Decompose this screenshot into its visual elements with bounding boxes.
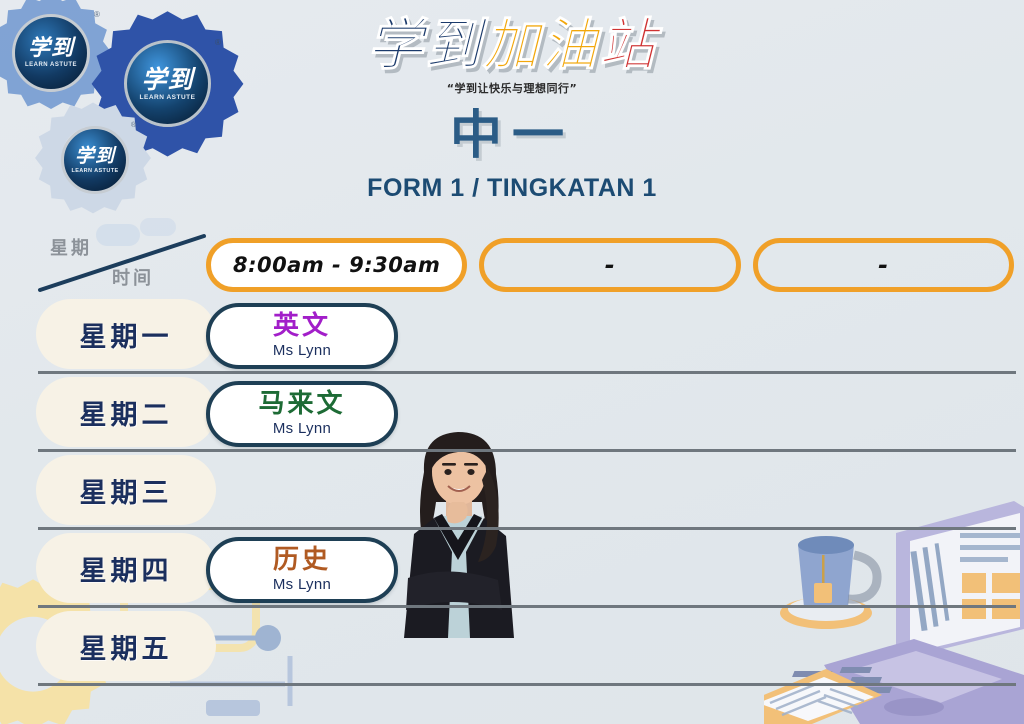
subject-tutor: Ms Lynn — [273, 576, 331, 593]
corner-time-label: 时间 — [112, 264, 154, 290]
subject-tutor: Ms Lynn — [273, 420, 331, 437]
day-label-wednesday: 星期三 — [36, 455, 216, 525]
table-row: 星期五 — [0, 608, 1024, 686]
cell-friday-slot1[interactable] — [206, 608, 467, 686]
corner-day-label: 星期 — [50, 234, 92, 260]
subject-card[interactable]: 历史 Ms Lynn — [206, 537, 398, 603]
time-slot-2[interactable]: - — [479, 238, 740, 292]
row-slots — [206, 452, 1014, 530]
time-slot-3[interactable]: - — [753, 238, 1014, 292]
cell-wednesday-slot2[interactable] — [479, 452, 740, 530]
subject-card[interactable]: 马来文 Ms Lynn — [206, 381, 398, 447]
brand-header: 学到加油站 “学到让快乐与理想同行” 中一 FORM 1 / TINGKATAN… — [0, 18, 1024, 203]
subject-name: 马来文 — [258, 391, 345, 418]
cell-thursday-slot2[interactable] — [479, 530, 740, 608]
table-row: 星期四 历史 Ms Lynn — [0, 530, 1024, 608]
cell-monday-slot2[interactable] — [479, 296, 740, 374]
day-label-thursday: 星期四 — [36, 533, 216, 603]
subject-tutor: Ms Lynn — [273, 342, 331, 359]
cell-monday-slot3[interactable] — [753, 296, 1014, 374]
cell-wednesday-slot3[interactable] — [753, 452, 1014, 530]
page-title-en: FORM 1 / TINGKATAN 1 — [0, 174, 1024, 203]
subject-card[interactable]: 英文 Ms Lynn — [206, 303, 398, 369]
time-slot-1[interactable]: 8:00am - 9:30am — [206, 238, 467, 292]
day-label-friday: 星期五 — [36, 611, 216, 681]
cell-tuesday-slot3[interactable] — [753, 374, 1014, 452]
day-label-monday: 星期一 — [36, 299, 216, 369]
cell-wednesday-slot1[interactable] — [206, 452, 467, 530]
row-slots — [206, 608, 1014, 686]
brand-logo-text: 学到加油站 — [0, 18, 1024, 74]
cell-friday-slot3[interactable] — [753, 608, 1014, 686]
corner-header: 星期 时间 — [36, 232, 208, 294]
row-slots: 英文 Ms Lynn — [206, 296, 1014, 374]
page-title-cn: 中一 — [0, 110, 1024, 162]
subject-name: 历史 — [273, 547, 331, 574]
cell-friday-slot2[interactable] — [479, 608, 740, 686]
row-separator — [38, 683, 1016, 686]
cell-monday-slot1[interactable]: 英文 Ms Lynn — [206, 296, 467, 374]
table-row: 星期一 英文 Ms Lynn — [0, 296, 1024, 374]
row-slots: 马来文 Ms Lynn — [206, 374, 1014, 452]
timetable-body: 星期一 英文 Ms Lynn 星期二 马来文 M — [0, 296, 1024, 686]
table-row: 星期二 马来文 Ms Lynn — [0, 374, 1024, 452]
time-slot-header-row: 8:00am - 9:30am - - — [206, 238, 1014, 292]
table-row: 星期三 — [0, 452, 1024, 530]
cell-tuesday-slot2[interactable] — [479, 374, 740, 452]
row-slots: 历史 Ms Lynn — [206, 530, 1014, 608]
cell-thursday-slot1[interactable]: 历史 Ms Lynn — [206, 530, 467, 608]
timetable-poster: 学到 LEARN ASTUTE ® 学到 LEARN ASTUTE ® — [0, 0, 1024, 724]
subject-name: 英文 — [273, 313, 331, 340]
cell-tuesday-slot1[interactable]: 马来文 Ms Lynn — [206, 374, 467, 452]
cell-thursday-slot3[interactable] — [753, 530, 1014, 608]
brand-tagline: “学到让快乐与理想同行” — [0, 80, 1024, 96]
day-label-tuesday: 星期二 — [36, 377, 216, 447]
